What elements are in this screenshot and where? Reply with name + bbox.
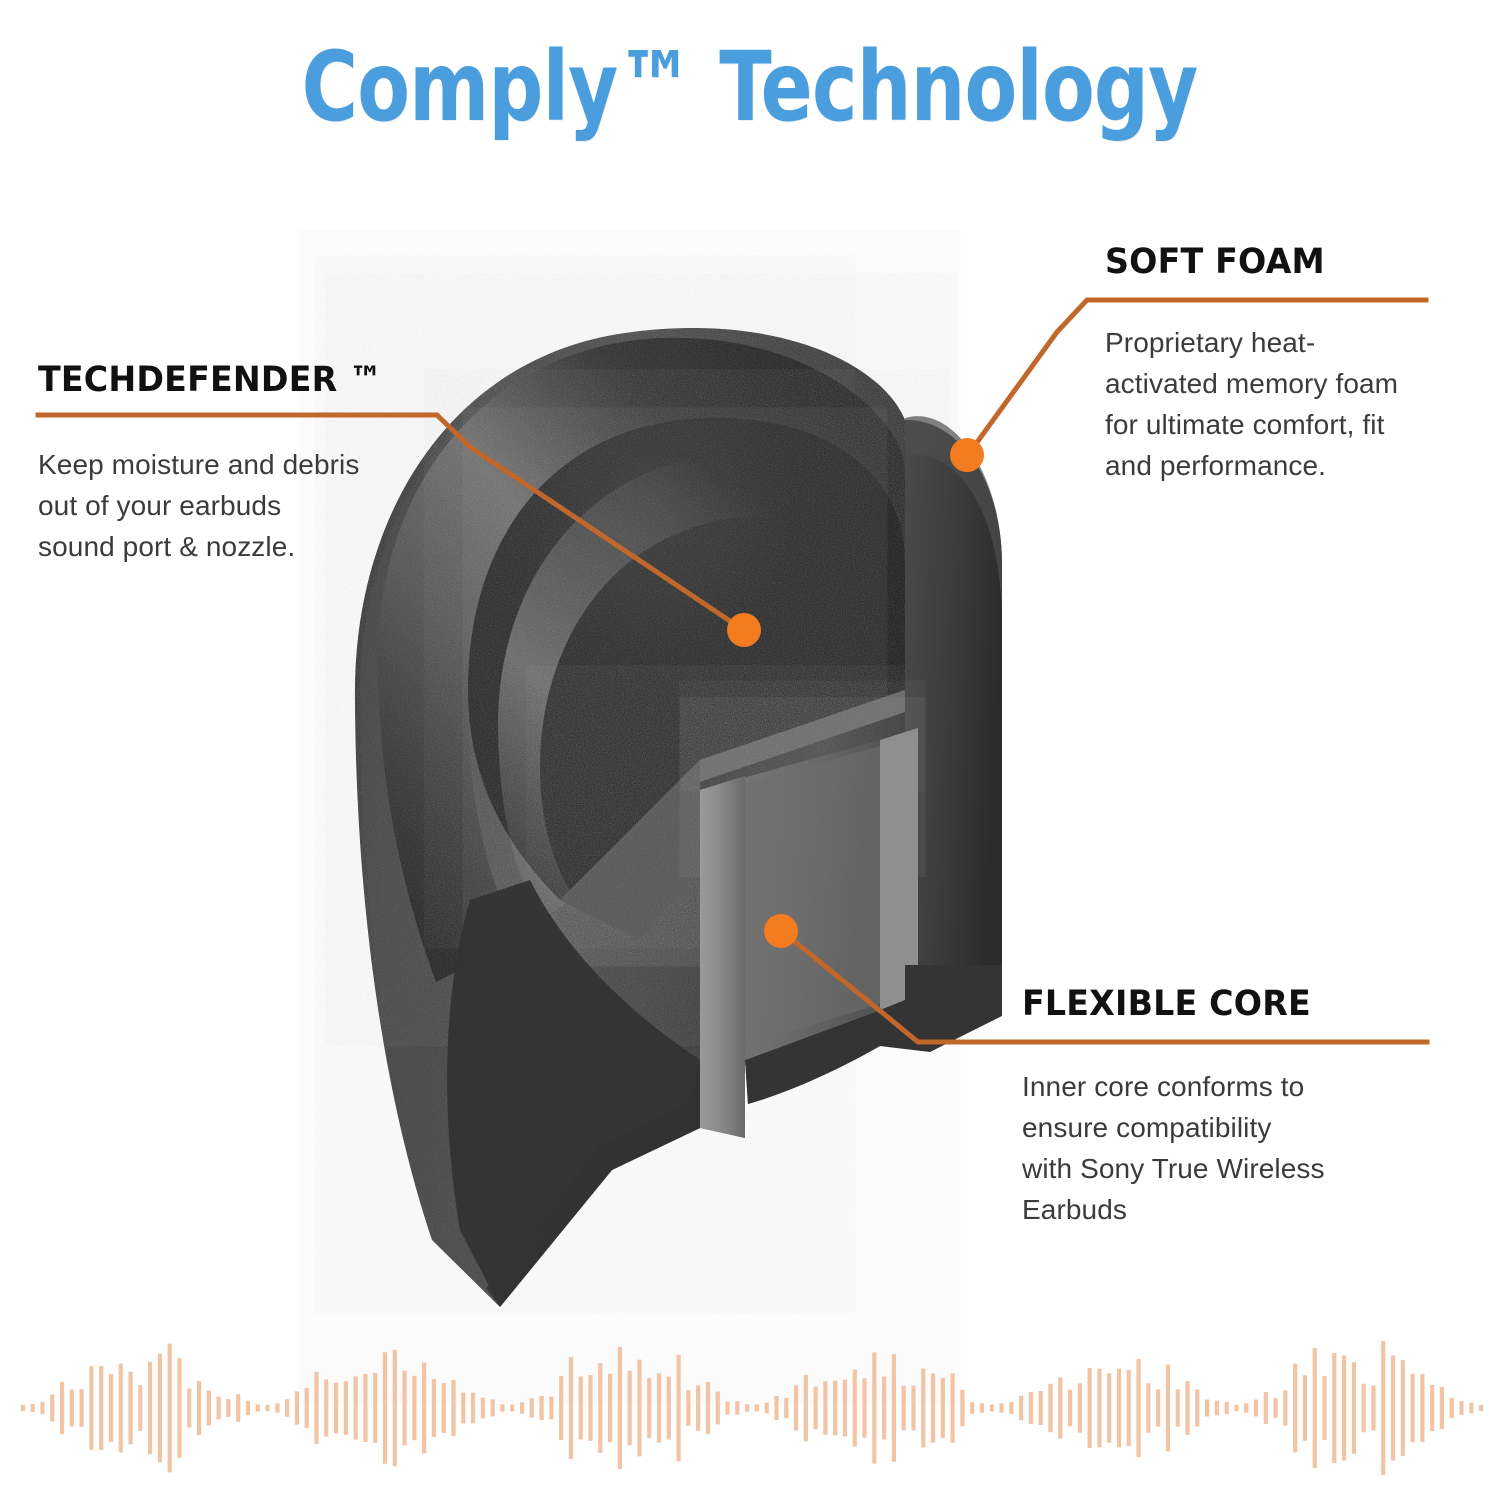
waveform-bar bbox=[226, 1399, 230, 1417]
waveform-bar bbox=[1459, 1401, 1463, 1415]
waveform-bar bbox=[755, 1405, 759, 1412]
waveform-bars bbox=[21, 1341, 1483, 1475]
waveform-bar bbox=[628, 1371, 632, 1445]
waveform-bar bbox=[40, 1402, 44, 1414]
waveform-bar bbox=[706, 1382, 710, 1434]
waveform-bar bbox=[774, 1396, 778, 1420]
waveform-bar bbox=[383, 1352, 387, 1464]
waveform-bar bbox=[902, 1386, 906, 1431]
waveform-bar bbox=[1019, 1396, 1023, 1421]
callout-flexible-core-line-2: ensure compatibility bbox=[1022, 1107, 1422, 1148]
waveform-bar bbox=[99, 1366, 103, 1450]
callout-techdefender-line-1: Keep moisture and debris bbox=[38, 444, 468, 485]
waveform-bar bbox=[833, 1381, 837, 1436]
waveform-bar bbox=[354, 1376, 358, 1439]
waveform-bar bbox=[285, 1399, 289, 1417]
waveform-bar bbox=[686, 1390, 690, 1426]
waveform-bar bbox=[80, 1389, 84, 1427]
waveform-bar bbox=[1450, 1398, 1454, 1418]
waveform-bar bbox=[197, 1381, 201, 1435]
waveform-bar bbox=[1469, 1402, 1473, 1413]
waveform-bar bbox=[872, 1352, 876, 1463]
waveform-bar bbox=[1283, 1390, 1287, 1425]
waveform-bar bbox=[559, 1376, 563, 1440]
waveform-bar bbox=[500, 1404, 504, 1411]
waveform-bar bbox=[1313, 1348, 1317, 1468]
audio-waveform-decoration bbox=[18, 1338, 1486, 1478]
waveform-bar bbox=[1156, 1389, 1160, 1426]
waveform-bar bbox=[236, 1394, 240, 1421]
waveform-bar bbox=[765, 1403, 769, 1414]
waveform-bar bbox=[588, 1375, 592, 1441]
waveform-bar bbox=[442, 1383, 446, 1433]
waveform-bar bbox=[60, 1382, 64, 1434]
waveform-bar bbox=[539, 1396, 543, 1420]
waveform-bar bbox=[1136, 1359, 1140, 1457]
callout-soft-foam: SOFT FOAM Proprietary heat- activated me… bbox=[1105, 242, 1445, 486]
callout-flexible-core-heading: FLEXIBLE CORE bbox=[1022, 984, 1402, 1024]
waveform-bar bbox=[862, 1378, 866, 1437]
callout-flexible-core: FLEXIBLE CORE Inner core conforms to ens… bbox=[1022, 984, 1422, 1230]
callout-flexible-core-body: Inner core conforms to ensure compatibil… bbox=[1022, 1066, 1422, 1230]
soft-foam-pointer-dot bbox=[950, 438, 984, 472]
waveform-bar bbox=[422, 1363, 426, 1454]
waveform-bar bbox=[1205, 1400, 1209, 1417]
waveform-bar bbox=[138, 1385, 142, 1431]
callout-flexible-core-line-1: Inner core conforms to bbox=[1022, 1066, 1422, 1107]
callout-soft-foam-line-2: activated memory foam bbox=[1105, 363, 1445, 404]
waveform-bar bbox=[451, 1380, 455, 1436]
waveform-bar bbox=[373, 1373, 377, 1443]
waveform-bar bbox=[569, 1357, 573, 1459]
waveform-bar bbox=[314, 1372, 318, 1444]
waveform-bar bbox=[520, 1402, 524, 1413]
waveform-bar bbox=[275, 1403, 279, 1412]
waveform-bar bbox=[1127, 1370, 1131, 1446]
callout-techdefender-body: Keep moisture and debris out of your ear… bbox=[38, 444, 468, 567]
waveform-bar bbox=[657, 1373, 661, 1442]
waveform-bar bbox=[598, 1363, 602, 1453]
waveform-bar bbox=[814, 1387, 818, 1430]
waveform-bar bbox=[471, 1393, 475, 1424]
waveform-bar bbox=[510, 1405, 514, 1412]
waveform-bar bbox=[461, 1392, 465, 1423]
flexible-core-bore-shadow bbox=[745, 746, 880, 1046]
callout-soft-foam-line-3: for ultimate comfort, fit bbox=[1105, 404, 1445, 445]
waveform-bar bbox=[618, 1347, 622, 1469]
waveform-bar bbox=[1215, 1401, 1219, 1416]
flexible-core-pointer-dot bbox=[764, 914, 798, 948]
waveform-bar bbox=[725, 1401, 729, 1414]
waveform-bar bbox=[1303, 1375, 1307, 1440]
waveform-bar bbox=[177, 1358, 181, 1458]
waveform-bar bbox=[1342, 1356, 1346, 1461]
waveform-bar bbox=[1391, 1355, 1395, 1460]
waveform-bar bbox=[70, 1390, 74, 1427]
waveform-bar bbox=[1322, 1376, 1326, 1440]
waveform-bar bbox=[608, 1374, 612, 1443]
waveform-bar bbox=[960, 1390, 964, 1427]
product-illustration bbox=[0, 0, 1499, 1499]
waveform-bar bbox=[1352, 1362, 1356, 1454]
waveform-bar bbox=[1225, 1402, 1229, 1414]
waveform-bar bbox=[735, 1401, 739, 1415]
waveform-bar bbox=[265, 1405, 269, 1411]
waveform-bar bbox=[677, 1355, 681, 1461]
callout-techdefender-heading: TECHDEFENDER ™ bbox=[38, 360, 447, 400]
waveform-bar bbox=[1244, 1403, 1248, 1413]
waveform-bar bbox=[921, 1368, 925, 1447]
waveform-bar bbox=[1058, 1377, 1062, 1438]
waveform-bar bbox=[119, 1364, 123, 1453]
infographic-canvas: Comply™ Technology bbox=[0, 0, 1499, 1499]
callout-soft-foam-line-1: Proprietary heat- bbox=[1105, 322, 1445, 363]
waveform-bar bbox=[324, 1380, 328, 1437]
waveform-bar bbox=[89, 1366, 93, 1450]
waveform-bar bbox=[1107, 1373, 1111, 1443]
waveform-bar bbox=[951, 1373, 955, 1442]
waveform-bar bbox=[1264, 1392, 1268, 1424]
waveform-bar bbox=[1420, 1374, 1424, 1442]
waveform-bar bbox=[1039, 1391, 1043, 1425]
waveform-bar bbox=[1048, 1384, 1052, 1432]
waveform-bar bbox=[50, 1395, 54, 1422]
waveform-bar bbox=[1078, 1383, 1082, 1432]
waveform-bar bbox=[1381, 1341, 1385, 1475]
callout-soft-foam-heading: SOFT FOAM bbox=[1105, 242, 1428, 282]
waveform-bar bbox=[109, 1374, 113, 1442]
waveform-bar bbox=[1117, 1369, 1121, 1448]
waveform-bar bbox=[980, 1403, 984, 1412]
callout-techdefender-line-3: sound port & nozzle. bbox=[38, 526, 468, 567]
waveform-bar bbox=[1479, 1405, 1483, 1411]
waveform-bar bbox=[1401, 1360, 1405, 1456]
waveform-bar bbox=[1440, 1387, 1444, 1429]
waveform-bar bbox=[579, 1376, 583, 1439]
waveform-bar bbox=[843, 1380, 847, 1437]
waveform-bar bbox=[549, 1397, 553, 1420]
waveform-bar bbox=[344, 1381, 348, 1435]
waveform-bar bbox=[393, 1350, 397, 1467]
flexible-core-near-wall bbox=[700, 776, 745, 1138]
waveform-bar bbox=[363, 1374, 367, 1442]
callout-flexible-core-line-3: with Sony True Wireless bbox=[1022, 1148, 1422, 1189]
waveform-bar bbox=[970, 1402, 974, 1414]
waveform-bar bbox=[794, 1385, 798, 1430]
waveform-bar bbox=[1097, 1369, 1101, 1448]
waveform-bar bbox=[637, 1360, 641, 1457]
waveform-bar bbox=[1411, 1374, 1415, 1443]
waveform-bar bbox=[412, 1376, 416, 1440]
waveform-bar bbox=[128, 1372, 132, 1445]
callout-soft-foam-body: Proprietary heat- activated memory foam … bbox=[1105, 322, 1445, 486]
callout-techdefender-line-2: out of your earbuds bbox=[38, 485, 468, 526]
waveform-bar bbox=[1430, 1385, 1434, 1431]
waveform-bar bbox=[716, 1392, 720, 1425]
waveform-bar bbox=[804, 1375, 808, 1441]
waveform-bar bbox=[21, 1405, 25, 1411]
waveform-bar bbox=[491, 1399, 495, 1416]
waveform-bar bbox=[667, 1377, 671, 1440]
waveform-bar bbox=[931, 1373, 935, 1442]
waveform-bar bbox=[1293, 1364, 1297, 1453]
waveform-bar bbox=[853, 1369, 857, 1446]
waveform-bar bbox=[647, 1378, 651, 1438]
waveform-bar bbox=[823, 1381, 827, 1435]
waveform-bar bbox=[941, 1378, 945, 1438]
waveform-bar bbox=[990, 1405, 994, 1412]
waveform-bar bbox=[217, 1397, 221, 1420]
waveform-bar bbox=[334, 1383, 338, 1434]
waveform-bar bbox=[1176, 1389, 1180, 1426]
callout-flexible-core-line-4: Earbuds bbox=[1022, 1189, 1422, 1230]
waveform-bar bbox=[1146, 1383, 1150, 1433]
waveform-bar bbox=[1195, 1389, 1199, 1426]
waveform-bar bbox=[1009, 1402, 1013, 1414]
waveform-bar bbox=[295, 1391, 299, 1424]
waveform-bar bbox=[911, 1386, 915, 1431]
waveform-bar bbox=[256, 1404, 260, 1411]
waveform-bar bbox=[1254, 1400, 1258, 1417]
waveform-bar bbox=[1234, 1405, 1238, 1411]
waveform-bar bbox=[1088, 1368, 1092, 1448]
callout-techdefender: TECHDEFENDER ™ Keep moisture and debris … bbox=[38, 360, 468, 567]
waveform-bar bbox=[158, 1354, 162, 1462]
waveform-bar bbox=[1068, 1390, 1072, 1427]
waveform-bar bbox=[1273, 1398, 1277, 1418]
waveform-bar bbox=[999, 1403, 1003, 1413]
waveform-bar bbox=[432, 1379, 436, 1437]
waveform-bar bbox=[1371, 1385, 1375, 1430]
waveform-bar bbox=[402, 1371, 406, 1446]
waveform-bar bbox=[305, 1388, 309, 1428]
waveform-bar bbox=[784, 1398, 788, 1418]
waveform-bar bbox=[696, 1385, 700, 1430]
waveform-bar bbox=[1166, 1365, 1170, 1452]
waveform-bar bbox=[481, 1398, 485, 1419]
waveform-bar bbox=[1332, 1353, 1336, 1463]
callout-soft-foam-line-4: and performance. bbox=[1105, 445, 1445, 486]
waveform-bar bbox=[1185, 1381, 1189, 1435]
waveform-bar bbox=[31, 1404, 35, 1412]
waveform-bar bbox=[745, 1404, 749, 1411]
waveform-bar bbox=[882, 1377, 886, 1440]
waveform-bar bbox=[1029, 1392, 1033, 1424]
waveform-bar bbox=[207, 1391, 211, 1426]
waveform-bar bbox=[530, 1398, 534, 1417]
waveform-bar bbox=[168, 1344, 172, 1473]
waveform-bar bbox=[187, 1389, 191, 1428]
waveform-bar bbox=[148, 1362, 152, 1454]
waveform-bar bbox=[246, 1401, 250, 1415]
waveform-bar bbox=[1362, 1384, 1366, 1432]
waveform-bar bbox=[892, 1354, 896, 1461]
techdefender-pointer-dot bbox=[727, 613, 761, 647]
